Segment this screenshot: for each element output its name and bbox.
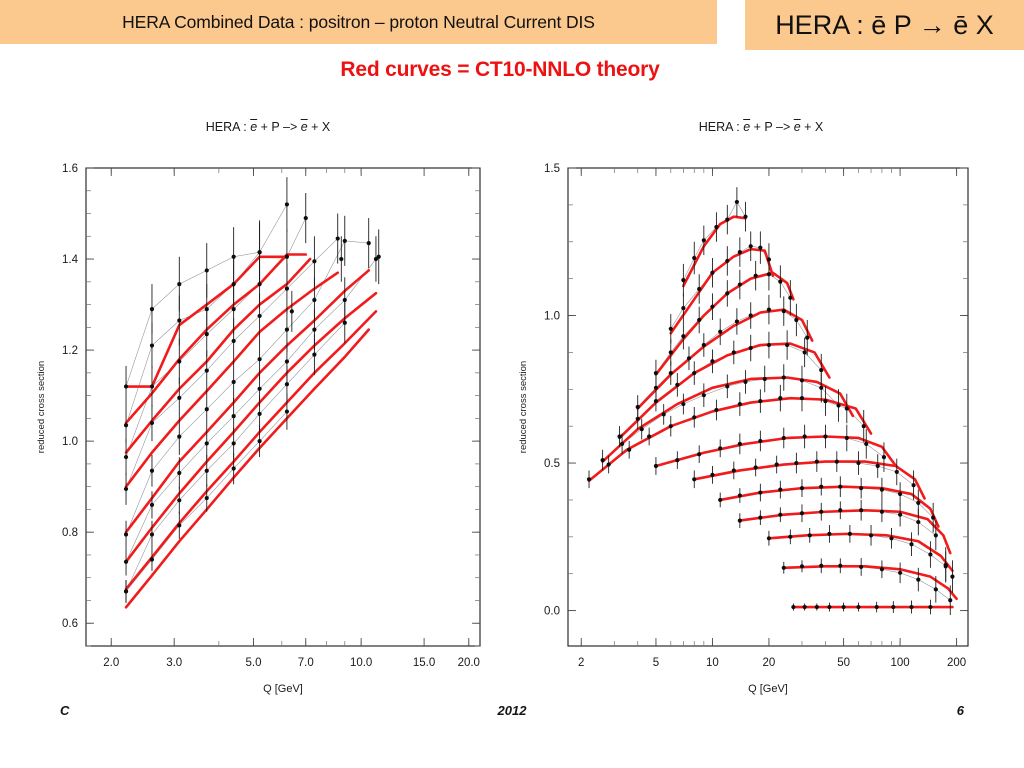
data-point [205, 332, 209, 336]
data-point [895, 470, 899, 474]
data-connector [784, 566, 950, 601]
data-point [823, 434, 827, 438]
data-point [880, 567, 884, 571]
data-point [754, 465, 758, 469]
data-point [856, 605, 860, 609]
data-point [710, 305, 714, 309]
data-point [692, 371, 696, 375]
data-point [232, 339, 236, 343]
data-point [258, 282, 262, 286]
header-banner-left-text: HERA Combined Data : positron – proton N… [122, 12, 595, 33]
data-point [859, 565, 863, 569]
data-connector [589, 398, 864, 479]
data-point [845, 406, 849, 410]
data-point [778, 396, 782, 400]
data-point [803, 605, 807, 609]
svg-text:0.8: 0.8 [62, 527, 78, 539]
data-point [124, 560, 128, 564]
data-point [859, 486, 863, 490]
data-point [285, 255, 289, 259]
data-point [205, 368, 209, 372]
svg-text:1.5: 1.5 [544, 163, 560, 175]
svg-text:Q [GeV]: Q [GeV] [263, 683, 303, 695]
data-point [819, 564, 823, 568]
data-point [909, 605, 913, 609]
data-point [948, 598, 952, 602]
data-point [339, 257, 343, 261]
data-point [725, 218, 729, 222]
data-point [258, 387, 262, 391]
svg-text:1.4: 1.4 [62, 254, 79, 266]
data-point [258, 439, 262, 443]
data-point [758, 490, 762, 494]
svg-text:1.0: 1.0 [62, 436, 78, 448]
data-point [669, 371, 673, 375]
data-point [681, 306, 685, 310]
data-point [808, 533, 812, 537]
data-point [864, 442, 868, 446]
theory-curve [126, 293, 376, 562]
data-point [912, 483, 916, 487]
data-point [758, 246, 762, 250]
data-point [285, 328, 289, 332]
data-point [819, 368, 823, 372]
data-point [232, 466, 236, 470]
data-point [738, 282, 742, 286]
data-point [205, 407, 209, 411]
data-point [788, 535, 792, 539]
svg-text:10.0: 10.0 [350, 657, 372, 669]
data-point [150, 307, 154, 311]
data-point [782, 309, 786, 313]
data-point [697, 452, 701, 456]
theory-curve [620, 344, 830, 438]
header-banner-right-text: HERA : ē P → ē X [775, 10, 994, 41]
data-point [880, 488, 884, 492]
data-point [304, 216, 308, 220]
data-point [150, 384, 154, 388]
data-point [800, 396, 804, 400]
data-point [124, 532, 128, 536]
data-point [367, 241, 371, 245]
data-point [232, 380, 236, 384]
data-point [675, 458, 679, 462]
header-banner-left: HERA Combined Data : positron – proton N… [0, 0, 717, 44]
data-point [258, 412, 262, 416]
svg-text:20: 20 [763, 657, 776, 669]
data-point [124, 487, 128, 491]
data-point [743, 380, 747, 384]
header-banner-right: HERA : ē P → ē X [745, 0, 1024, 50]
data-point [669, 350, 673, 354]
svg-text:3.0: 3.0 [166, 657, 182, 669]
subtitle-red-curves: Red curves = CT10-NNLO theory [0, 58, 1024, 82]
theory-curve [720, 487, 938, 527]
data-point [654, 399, 658, 403]
data-point [934, 587, 938, 591]
data-point [654, 464, 658, 468]
footer-center: 2012 [0, 703, 1024, 718]
data-point [177, 434, 181, 438]
data-point [177, 498, 181, 502]
svg-text:Q [GeV]: Q [GeV] [748, 683, 788, 695]
data-point [785, 343, 789, 347]
svg-text:20.0: 20.0 [458, 657, 480, 669]
data-point [931, 516, 935, 520]
svg-text:0.0: 0.0 [544, 606, 560, 618]
data-point [669, 424, 673, 428]
data-connector [126, 252, 260, 386]
data-point [336, 236, 340, 240]
data-point [754, 274, 758, 278]
svg-text:1.2: 1.2 [62, 345, 78, 357]
data-point [803, 434, 807, 438]
svg-text:5: 5 [653, 657, 659, 669]
data-point [617, 434, 621, 438]
data-point [876, 464, 880, 468]
data-point [285, 287, 289, 291]
data-point [232, 441, 236, 445]
data-point [714, 225, 718, 229]
data-point [782, 566, 786, 570]
data-point [636, 417, 640, 421]
data-point [725, 259, 729, 263]
data-point [916, 501, 920, 505]
svg-text:1.6: 1.6 [62, 163, 78, 175]
svg-text:0.5: 0.5 [544, 458, 560, 470]
data-point [916, 578, 920, 582]
theory-curve [589, 398, 871, 481]
data-point [258, 314, 262, 318]
data-point [150, 532, 154, 536]
data-point [800, 486, 804, 490]
data-point [343, 239, 347, 243]
data-point [856, 461, 860, 465]
data-point [749, 244, 753, 248]
data-point [710, 271, 714, 275]
data-point [800, 511, 804, 515]
data-point [738, 518, 742, 522]
data-point [150, 503, 154, 507]
data-point [827, 605, 831, 609]
data-point [343, 298, 347, 302]
data-point [738, 493, 742, 497]
data-point [791, 605, 795, 609]
data-point [758, 516, 762, 520]
data-point [803, 350, 807, 354]
data-point [285, 409, 289, 413]
theory-curve [694, 462, 924, 499]
data-point [681, 334, 685, 338]
data-point [842, 605, 846, 609]
data-point [150, 421, 154, 425]
data-point [794, 461, 798, 465]
data-point [845, 436, 849, 440]
data-point [654, 386, 658, 390]
data-point [285, 202, 289, 206]
data-point [778, 488, 782, 492]
data-point [718, 446, 722, 450]
data-point [620, 442, 624, 446]
data-point [775, 462, 779, 466]
data-point [800, 378, 804, 382]
svg-text:100: 100 [891, 657, 910, 669]
data-point [749, 313, 753, 317]
data-point [725, 291, 729, 295]
svg-text:200: 200 [947, 657, 966, 669]
data-point [640, 427, 644, 431]
data-point [767, 308, 771, 312]
data-point [205, 441, 209, 445]
data-point [607, 462, 611, 466]
data-point [177, 396, 181, 400]
data-point [749, 346, 753, 350]
data-point [934, 533, 938, 537]
data-point [782, 436, 786, 440]
data-point [838, 485, 842, 489]
data-point [343, 321, 347, 325]
data-point [735, 200, 739, 204]
data-point [880, 510, 884, 514]
data-point [815, 459, 819, 463]
data-point [794, 318, 798, 322]
data-point [898, 492, 902, 496]
data-point [702, 393, 706, 397]
data-point [681, 278, 685, 282]
data-point [636, 405, 640, 409]
data-point [687, 356, 691, 360]
data-point [891, 605, 895, 609]
plot-title-left: HERA : e + P –> e + X [28, 120, 508, 134]
data-point [758, 399, 762, 403]
data-point [823, 399, 827, 403]
data-point [692, 477, 696, 481]
data-point [835, 459, 839, 463]
data-point [763, 377, 767, 381]
data-point [819, 485, 823, 489]
data-point [177, 523, 181, 527]
data-point [859, 508, 863, 512]
data-point [916, 520, 920, 524]
data-point [767, 343, 771, 347]
data-point [124, 423, 128, 427]
footer-right: 6 [957, 703, 964, 718]
data-point [290, 309, 294, 313]
data-point [714, 408, 718, 412]
data-point [950, 575, 954, 579]
data-point [848, 532, 852, 536]
data-point [827, 532, 831, 536]
data-point [710, 473, 714, 477]
svg-text:1.0: 1.0 [544, 311, 560, 323]
data-point [909, 542, 913, 546]
data-point [702, 238, 706, 242]
data-point [944, 563, 948, 567]
data-point [681, 402, 685, 406]
data-point [732, 350, 736, 354]
svg-text:reduced cross section: reduced cross section [36, 361, 47, 453]
data-point [205, 268, 209, 272]
theory-curve [784, 566, 957, 598]
data-point [898, 513, 902, 517]
data-point [710, 359, 714, 363]
data-point [743, 215, 747, 219]
data-point [627, 448, 631, 452]
data-point [177, 471, 181, 475]
data-point [232, 414, 236, 418]
data-point [232, 307, 236, 311]
data-point [601, 458, 605, 462]
data-point [124, 384, 128, 388]
data-point [312, 298, 316, 302]
svg-text:2: 2 [578, 657, 584, 669]
data-point [889, 536, 893, 540]
data-point [177, 359, 181, 363]
plot-title-right: HERA : e + P –> e + X [518, 120, 1004, 134]
svg-text:50: 50 [837, 657, 850, 669]
data-point [869, 533, 873, 537]
data-point [150, 469, 154, 473]
data-point [718, 330, 722, 334]
chart-left: 2.03.05.07.010.015.020.00.60.81.01.21.41… [28, 142, 508, 722]
data-point [312, 259, 316, 263]
data-point [735, 319, 739, 323]
svg-text:7.0: 7.0 [298, 657, 314, 669]
svg-text:5.0: 5.0 [246, 657, 262, 669]
data-point [669, 327, 673, 331]
data-point [702, 343, 706, 347]
data-point [312, 328, 316, 332]
data-point [758, 439, 762, 443]
data-point [767, 536, 771, 540]
plot-panel-left: HERA : e + P –> e + X 2.03.05.07.010.015… [28, 120, 508, 722]
data-point [875, 605, 879, 609]
data-point [177, 318, 181, 322]
data-point [205, 469, 209, 473]
data-point [697, 318, 701, 322]
data-point [838, 508, 842, 512]
theory-curve [126, 330, 369, 608]
svg-text:reduced cross section: reduced cross section [518, 361, 529, 453]
data-point [377, 255, 381, 259]
data-point [205, 496, 209, 500]
data-point [838, 564, 842, 568]
data-point [725, 384, 729, 388]
svg-text:0.6: 0.6 [62, 618, 78, 630]
data-point [675, 383, 679, 387]
data-point [778, 513, 782, 517]
data-point [285, 359, 289, 363]
data-point [815, 605, 819, 609]
data-point [718, 498, 722, 502]
data-point [819, 510, 823, 514]
data-point [124, 589, 128, 593]
data-point [836, 403, 840, 407]
data-point [800, 564, 804, 568]
data-point [258, 357, 262, 361]
data-point [124, 455, 128, 459]
data-point [150, 343, 154, 347]
data-point [898, 571, 902, 575]
data-point [767, 272, 771, 276]
data-point [177, 282, 181, 286]
data-point [312, 353, 316, 357]
svg-text:10: 10 [706, 657, 719, 669]
data-point [778, 279, 782, 283]
data-connector [769, 534, 946, 566]
data-point [692, 256, 696, 260]
data-point [782, 375, 786, 379]
data-point [738, 402, 742, 406]
data-point [862, 424, 866, 428]
theory-curve [638, 310, 812, 409]
data-point [662, 412, 666, 416]
theory-curve [671, 249, 773, 333]
data-point [805, 336, 809, 340]
data-point [788, 296, 792, 300]
data-point [928, 552, 932, 556]
data-point [928, 605, 932, 609]
svg-text:2.0: 2.0 [103, 657, 119, 669]
data-point [692, 415, 696, 419]
data-point [587, 477, 591, 481]
data-point [285, 382, 289, 386]
data-point [819, 386, 823, 390]
data-point [738, 442, 742, 446]
data-point [258, 250, 262, 254]
data-point [150, 557, 154, 561]
data-point [205, 307, 209, 311]
svg-text:15.0: 15.0 [413, 657, 435, 669]
data-point [647, 434, 651, 438]
subtitle-text: Red curves = CT10-NNLO theory [340, 58, 659, 82]
chart-right: 251020501002000.00.51.01.5Q [GeV]reduced… [518, 142, 1004, 722]
data-point [738, 250, 742, 254]
plot-panel-right: HERA : e + P –> e + X 251020501002000.00… [518, 120, 1004, 722]
data-point [654, 371, 658, 375]
data-point [732, 468, 736, 472]
data-point [882, 455, 886, 459]
data-point [697, 287, 701, 291]
